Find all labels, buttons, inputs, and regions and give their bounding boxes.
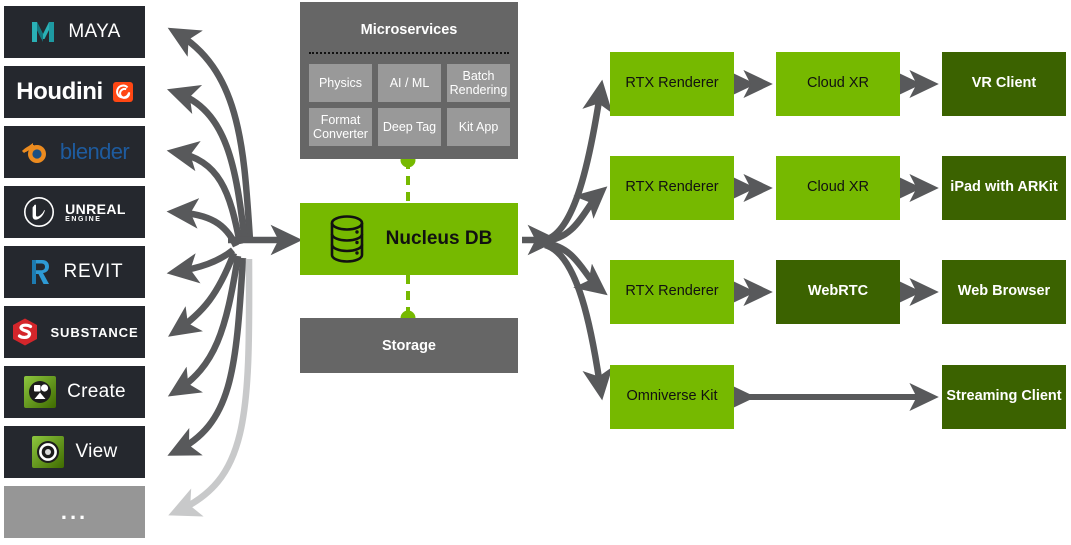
- app-tile-unreal-engine[interactable]: UNREAL ENGINE: [4, 186, 145, 238]
- service-tile-ai-ml[interactable]: AI / ML: [378, 64, 441, 102]
- app-label: SUBSTANCE: [50, 325, 138, 340]
- omniverse-view-icon: [31, 435, 65, 469]
- pipeline-1-stage-rtx-renderer[interactable]: RTX Renderer: [610, 52, 734, 116]
- revit-logo-icon: [26, 257, 54, 287]
- blender-logo-icon: [20, 138, 50, 166]
- pipeline-3-stage-webrtc[interactable]: WebRTC: [776, 260, 900, 324]
- pipeline-2-stage-ipad-with-arkit[interactable]: iPad with ARKit: [942, 156, 1066, 220]
- app-tile-omniverse-view[interactable]: View: [4, 426, 145, 478]
- app-label: Houdini: [16, 78, 103, 106]
- ellipsis-icon: ...: [61, 508, 88, 517]
- app-label: blender: [60, 139, 129, 165]
- pipeline-3-stage-rtx-renderer[interactable]: RTX Renderer: [610, 260, 734, 324]
- pipeline-1-stage-cloud-xr[interactable]: Cloud XR: [776, 52, 900, 116]
- service-tile-format-converter[interactable]: Format Converter: [309, 108, 372, 146]
- service-tile-kit-app[interactable]: Kit App: [447, 108, 510, 146]
- microservices-panel: Microservices Physics AI / ML Batch Rend…: [300, 2, 518, 159]
- app-tile-houdini[interactable]: Houdini: [4, 66, 145, 118]
- panel-divider: [309, 52, 509, 54]
- connector-arrows: [0, 0, 1071, 545]
- app-label-sub: ENGINE: [65, 216, 126, 223]
- houdini-logo-icon: [113, 82, 133, 102]
- microservices-title: Microservices: [300, 22, 518, 38]
- service-tile-physics[interactable]: Physics: [309, 64, 372, 102]
- maya-logo-icon: [28, 17, 58, 47]
- app-label-main: UNREAL: [65, 201, 126, 217]
- app-tile-omniverse-create[interactable]: Create: [4, 366, 145, 418]
- pipeline-2-stage-rtx-renderer[interactable]: RTX Renderer: [610, 156, 734, 220]
- app-tile-more[interactable]: ...: [4, 486, 145, 538]
- app-tile-blender[interactable]: blender: [4, 126, 145, 178]
- app-tile-substance[interactable]: SUBSTANCE: [4, 306, 145, 358]
- app-label: UNREAL ENGINE: [65, 202, 126, 223]
- nucleus-db-box[interactable]: Nucleus DB: [300, 203, 518, 275]
- app-label: View: [75, 441, 117, 463]
- pipeline-2-stage-cloud-xr[interactable]: Cloud XR: [776, 156, 900, 220]
- app-label: Create: [67, 381, 126, 403]
- omniverse-create-icon: [23, 375, 57, 409]
- nucleus-db-label: Nucleus DB: [386, 228, 493, 251]
- app-label: MAYA: [68, 21, 120, 43]
- app-tile-revit[interactable]: REVIT: [4, 246, 145, 298]
- service-tile-batch-rendering[interactable]: Batch Rendering: [447, 64, 510, 102]
- substance-logo-icon: [10, 317, 40, 347]
- app-tile-maya[interactable]: MAYA: [4, 6, 145, 58]
- omniverse-architecture-diagram: MAYA Houdini blender UNREAL ENGINE: [0, 0, 1071, 545]
- pipeline-4-stage-streaming-client[interactable]: Streaming Client: [942, 365, 1066, 429]
- pipeline-1-stage-vr-client[interactable]: VR Client: [942, 52, 1066, 116]
- storage-panel[interactable]: Storage: [300, 318, 518, 373]
- pipeline-3-stage-web-browser[interactable]: Web Browser: [942, 260, 1066, 324]
- app-label: REVIT: [64, 261, 124, 283]
- storage-label: Storage: [382, 338, 436, 354]
- pipeline-4-stage-omniverse-kit[interactable]: Omniverse Kit: [610, 365, 734, 429]
- service-tile-deep-tag[interactable]: Deep Tag: [378, 108, 441, 146]
- unreal-engine-logo-icon: [23, 196, 55, 228]
- database-cylinder-icon: [326, 213, 368, 265]
